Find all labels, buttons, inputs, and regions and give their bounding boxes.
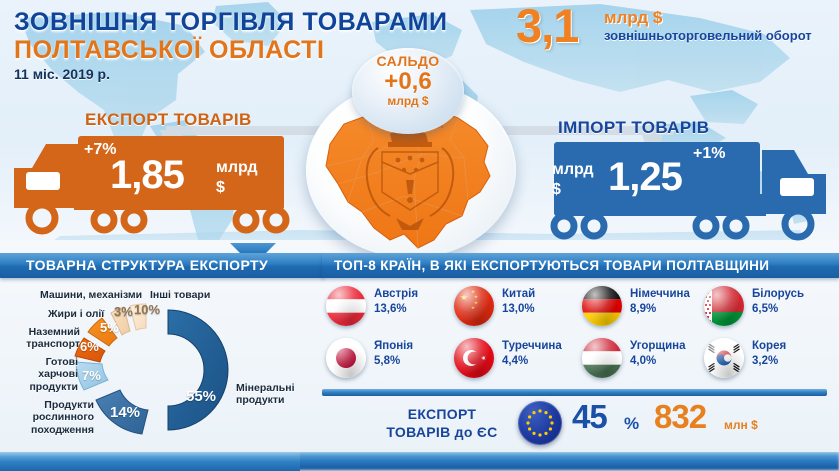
turnover-unit: млрд $ — [604, 8, 662, 28]
slice-label-other-goods: Інші товари — [150, 289, 210, 301]
flag-gloss — [326, 338, 366, 378]
eu-export-summary: ЕКСПОРТ ТОВАРІВ до ЄС 45 % 832 млн $ — [322, 398, 827, 448]
import-unit-line2: $ — [552, 181, 561, 198]
import-value: 1,25 — [608, 157, 682, 197]
country-item-austria: Австрія 13,6% — [326, 285, 452, 333]
country-value: 13,6% — [374, 303, 407, 315]
flag-gloss — [454, 338, 494, 378]
flag-gloss — [326, 286, 366, 326]
slice-value-fats-and-oils: 5% — [100, 320, 119, 335]
austria-flag-icon — [326, 286, 366, 326]
slice-label-mineral-products: Мінеральні продукти — [236, 382, 308, 407]
slice-value-plant-products: 14% — [110, 404, 140, 421]
export-unit: млрд $ — [216, 158, 258, 198]
export-unit-line1: млрд — [216, 159, 258, 176]
infographic-canvas: ЗОВНІШНЯ ТОРГІВЛЯ ТОВАРАМИ ПОЛТАВСЬКОЇ О… — [0, 0, 839, 471]
country-name: Німеччина — [630, 288, 690, 300]
slice-value-machinery: 3% — [114, 304, 133, 319]
eu-percent-sign: % — [624, 414, 639, 434]
balance-unit: млрд $ — [352, 94, 464, 108]
country-item-china: Китай 13,0% — [454, 285, 580, 333]
china-flag-icon — [454, 286, 494, 326]
eu-percent: 45 — [572, 400, 607, 433]
belarus-flag-icon — [704, 286, 744, 326]
eu-amount-unit: млн $ — [724, 418, 758, 432]
slice-value-other-goods: 10% — [134, 302, 160, 317]
slice-label-plant-products: Продукти рослинного походження — [14, 399, 94, 436]
slice-mineral-products — [168, 310, 228, 430]
country-item-turkey: Туреччина 4,4% — [454, 337, 580, 385]
eu-section-rule — [322, 389, 827, 396]
import-change: +1% — [693, 145, 725, 163]
export-structure-chart: 55% 14% 7% 6% 5% 3% 10% Машини, механізм… — [0, 282, 318, 457]
footer-bar — [0, 452, 839, 471]
balance-label: САЛЬДО — [352, 53, 464, 69]
country-value: 4,0% — [630, 355, 656, 367]
slice-label-ground-transport: Наземний транспорт — [18, 326, 80, 351]
hungary-flag-icon — [582, 338, 622, 378]
import-caption: ІМПОРТ ТОВАРІВ — [558, 118, 709, 138]
country-name: Китай — [502, 288, 535, 300]
eu-caption: ЕКСПОРТ ТОВАРІВ до ЄС — [374, 406, 510, 441]
eu-caption-line1: ЕКСПОРТ — [408, 406, 477, 422]
country-item-belarus: Білорусь 6,5% — [704, 285, 830, 333]
slice-value-mineral-products: 55% — [186, 388, 216, 405]
export-caption: ЕКСПОРТ ТОВАРІВ — [85, 110, 252, 130]
country-value: 6,5% — [752, 303, 778, 315]
turkey-flag-icon — [454, 338, 494, 378]
export-value: 1,85 — [110, 155, 184, 195]
flag-gloss — [454, 286, 494, 326]
slice-value-prepared-foodstuffs: 7% — [82, 368, 101, 383]
country-name: Туреччина — [502, 340, 562, 352]
flag-gloss — [582, 286, 622, 326]
country-name: Австрія — [374, 288, 418, 300]
flag-gloss — [582, 338, 622, 378]
slice-label-prepared-foodstuffs: Готові харчові продукти — [16, 356, 78, 393]
country-name: Білорусь — [752, 288, 804, 300]
flag-gloss — [704, 338, 744, 378]
export-unit-line2: $ — [216, 179, 225, 196]
import-unit: млрд $ — [552, 160, 594, 200]
slice-label-fats-and-oils: Жири і олії — [48, 308, 104, 320]
eu-flag-icon — [518, 401, 562, 445]
japan-flag-icon — [326, 338, 366, 378]
turnover-value: 3,1 — [516, 2, 578, 49]
balance-value: +0,6 — [352, 70, 464, 94]
germany-flag-icon — [582, 286, 622, 326]
country-value: 3,2% — [752, 355, 778, 367]
top8-banner: ТОП-8 КРАЇН, В ЯКІ ЕКСПОРТУЮТЬСЯ ТОВАРИ … — [322, 253, 839, 278]
country-name: Угорщина — [630, 340, 686, 352]
country-item-hungary: Угорщина 4,0% — [582, 337, 708, 385]
period-label: 11 міс. 2019 р. — [14, 66, 110, 82]
country-item-germany: Німеччина 8,9% — [582, 285, 708, 333]
import-unit-line1: млрд — [552, 161, 594, 178]
country-value: 8,9% — [630, 303, 656, 315]
page-title-line1: ЗОВНІШНЯ ТОРГІВЛЯ ТОВАРАМИ — [14, 8, 448, 37]
country-name: Японія — [374, 340, 413, 352]
country-item-korea: Корея 3,2% — [704, 337, 830, 385]
eu-caption-line2: ТОВАРІВ до ЄС — [386, 424, 497, 440]
turnover-caption: зовнішньоторговельний оборот — [604, 28, 836, 44]
top8-countries-grid: Австрія 13,6% Китай 13,0% — [326, 285, 831, 385]
south-korea-flag-icon — [704, 338, 744, 378]
footer-bar-left-accent — [0, 452, 300, 471]
slice-value-ground-transport: 6% — [80, 339, 99, 354]
page-title-line2: ПОЛТАВСЬКОЇ ОБЛАСТІ — [14, 36, 325, 65]
country-item-japan: Японія 5,8% — [326, 337, 452, 385]
balance-badge: САЛЬДО +0,6 млрд $ — [352, 48, 464, 134]
structure-banner: ТОВАРНА СТРУКТУРА ЕКСПОРТУ — [0, 253, 324, 278]
country-value: 13,0% — [502, 303, 535, 315]
country-value: 5,8% — [374, 355, 400, 367]
flag-gloss — [704, 286, 744, 326]
country-name: Корея — [752, 340, 786, 352]
eu-amount: 832 — [654, 400, 706, 433]
slice-label-machinery: Машини, механізми — [40, 289, 142, 301]
country-value: 4,4% — [502, 355, 528, 367]
